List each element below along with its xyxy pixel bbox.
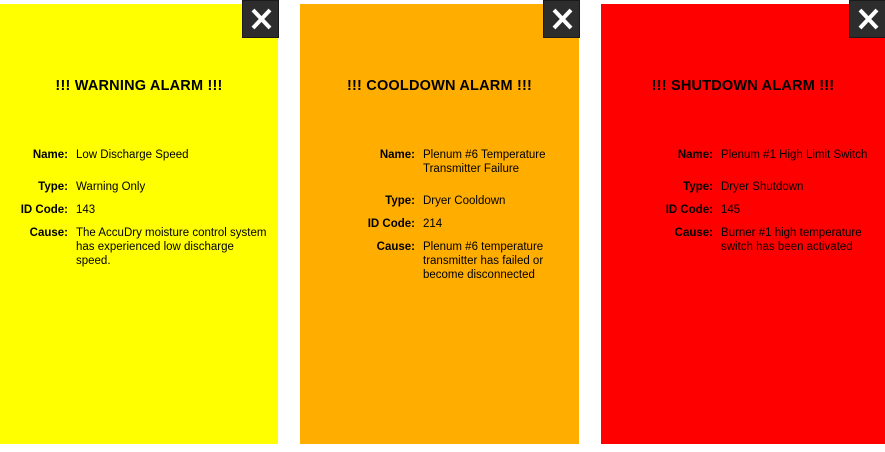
alarm-details: Name: Low Discharge Speed Type: Warning … [0,148,278,268]
detail-label-type: Type: [8,180,68,194]
detail-row-id-code: ID Code: 143 [0,203,278,217]
close-x-icon [243,1,280,37]
detail-value-type: Dryer Shutdown [721,180,877,194]
detail-label-cause: Cause: [653,226,713,240]
detail-value-name: Plenum #6 Temperature Transmitter Failur… [423,148,571,176]
detail-row-cause: Cause: Plenum #6 temperature transmitter… [300,240,579,282]
alarm-title: !!! SHUTDOWN ALARM !!! [601,78,885,94]
detail-label-name: Name: [653,148,713,162]
detail-value-cause: The AccuDry moisture control system has … [76,226,268,268]
alarm-title: !!! COOLDOWN ALARM !!! [300,78,579,94]
detail-value-type: Warning Only [76,180,268,194]
detail-value-id-code: 214 [423,217,571,231]
detail-value-id-code: 145 [721,203,877,217]
detail-label-type: Type: [355,194,415,208]
detail-label-id-code: ID Code: [8,203,68,217]
detail-row-type: Type: Warning Only [0,180,278,194]
detail-row-name: Name: Low Discharge Speed [0,148,278,162]
detail-label-name: Name: [355,148,415,162]
close-x-icon [544,1,581,37]
detail-label-id-code: ID Code: [653,203,713,217]
detail-label-id-code: ID Code: [355,217,415,231]
alarm-panel-warning: !!! WARNING ALARM !!! Name: Low Discharg… [0,4,278,444]
detail-row-type: Type: Dryer Shutdown [601,180,885,194]
detail-label-type: Type: [653,180,713,194]
alarm-details: Name: Plenum #6 Temperature Transmitter … [300,148,579,282]
detail-label-cause: Cause: [355,240,415,254]
detail-value-name: Low Discharge Speed [76,148,268,162]
detail-label-name: Name: [8,148,68,162]
close-icon-button[interactable] [849,0,885,38]
detail-row-name: Name: Plenum #1 High Limit Switch [601,148,885,162]
detail-value-cause: Plenum #6 temperature transmitter has fa… [423,240,571,282]
close-x-icon [850,1,885,37]
detail-row-type: Type: Dryer Cooldown [300,194,579,208]
detail-value-id-code: 143 [76,203,268,217]
detail-value-name: Plenum #1 High Limit Switch [721,148,877,162]
detail-row-cause: Cause: The AccuDry moisture control syst… [0,226,278,268]
alarm-dialogs-stage: !!! WARNING ALARM !!! Name: Low Discharg… [0,0,885,452]
detail-value-type: Dryer Cooldown [423,194,571,208]
alarm-panel-cooldown: !!! COOLDOWN ALARM !!! Name: Plenum #6 T… [300,4,579,444]
close-icon-button[interactable] [543,0,580,38]
detail-row-id-code: ID Code: 145 [601,203,885,217]
detail-label-cause: Cause: [8,226,68,240]
detail-row-cause: Cause: Burner #1 high temperature switch… [601,226,885,254]
alarm-panel-shutdown: !!! SHUTDOWN ALARM !!! Name: Plenum #1 H… [601,4,885,444]
detail-value-cause: Burner #1 high temperature switch has be… [721,226,877,254]
alarm-details: Name: Plenum #1 High Limit Switch Type: … [601,148,885,254]
detail-row-id-code: ID Code: 214 [300,217,579,231]
alarm-title: !!! WARNING ALARM !!! [0,78,278,94]
detail-row-name: Name: Plenum #6 Temperature Transmitter … [300,148,579,176]
close-icon-button[interactable] [242,0,279,38]
